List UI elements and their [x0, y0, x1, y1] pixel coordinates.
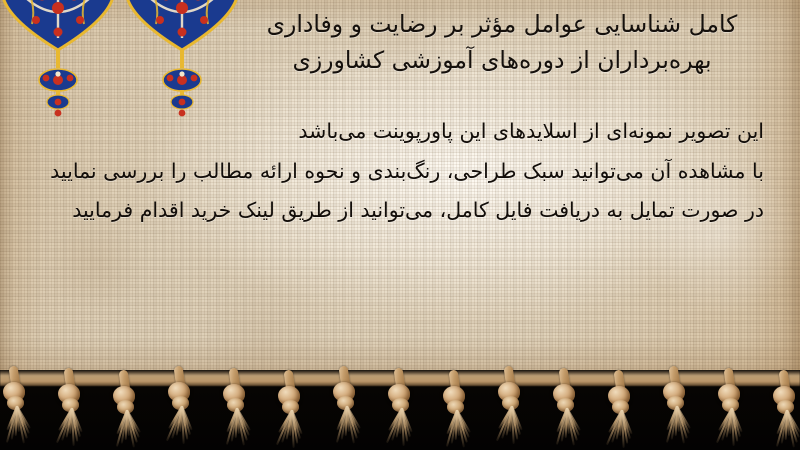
tassel-tuft	[607, 410, 637, 450]
presentation-slide: کامل شناسایی عوامل مؤثر بر رضایت و وفادا…	[0, 0, 800, 450]
fringe-tassel	[654, 360, 706, 450]
fringe-tassel	[489, 360, 541, 450]
slide-title-line-2: بهره‌برداران از دوره‌های آموزشی کشاورزی	[222, 42, 782, 78]
persian-medallion-ornament-left	[0, 0, 124, 118]
fringe-tassel	[544, 362, 596, 450]
tassel-tuft	[332, 406, 362, 446]
tassel-tuft	[2, 406, 32, 446]
tassel-tuft	[387, 408, 417, 448]
carpet-knotted-fringe	[0, 360, 800, 450]
fringe-tassel	[709, 362, 761, 450]
tassel-tuft	[112, 410, 142, 450]
tassel-tuft	[497, 406, 527, 446]
fringe-tassel	[214, 362, 266, 450]
fringe-tassel	[324, 360, 376, 450]
slide-title-line-1: کامل شناسایی عوامل مؤثر بر رضایت و وفادا…	[222, 6, 782, 42]
tassel-tuft	[167, 406, 197, 446]
tassel-tuft	[662, 406, 692, 446]
fringe-tassel	[764, 364, 800, 450]
fringe-tassel	[104, 364, 156, 450]
fringe-tassel	[599, 364, 651, 450]
tassel-tuft	[717, 408, 747, 448]
tassel-tuft	[442, 410, 472, 450]
tassel-tuft	[552, 408, 582, 448]
tassel-tuft	[277, 410, 307, 450]
body-line-2: با مشاهده آن می‌توانید سبک طراحی، رنگ‌بن…	[24, 152, 764, 191]
fringe-tassel	[379, 362, 431, 450]
tassel-tuft	[222, 408, 252, 448]
tassel-tuft	[57, 408, 87, 448]
body-line-3: در صورت تمایل به دریافت فایل کامل، می‌تو…	[24, 191, 764, 230]
fringe-tassel	[49, 362, 101, 450]
slide-title: کامل شناسایی عوامل مؤثر بر رضایت و وفادا…	[222, 6, 782, 78]
fringe-tassel	[434, 364, 486, 450]
tassel-tuft	[772, 410, 800, 450]
fringe-tassel	[269, 364, 321, 450]
fringe-tassel	[159, 360, 211, 450]
body-line-1: این تصویر نمونه‌ای از اسلایدهای این پاور…	[24, 112, 764, 151]
fringe-tassel	[0, 360, 46, 450]
slide-body: این تصویر نمونه‌ای از اسلایدهای این پاور…	[24, 112, 764, 230]
